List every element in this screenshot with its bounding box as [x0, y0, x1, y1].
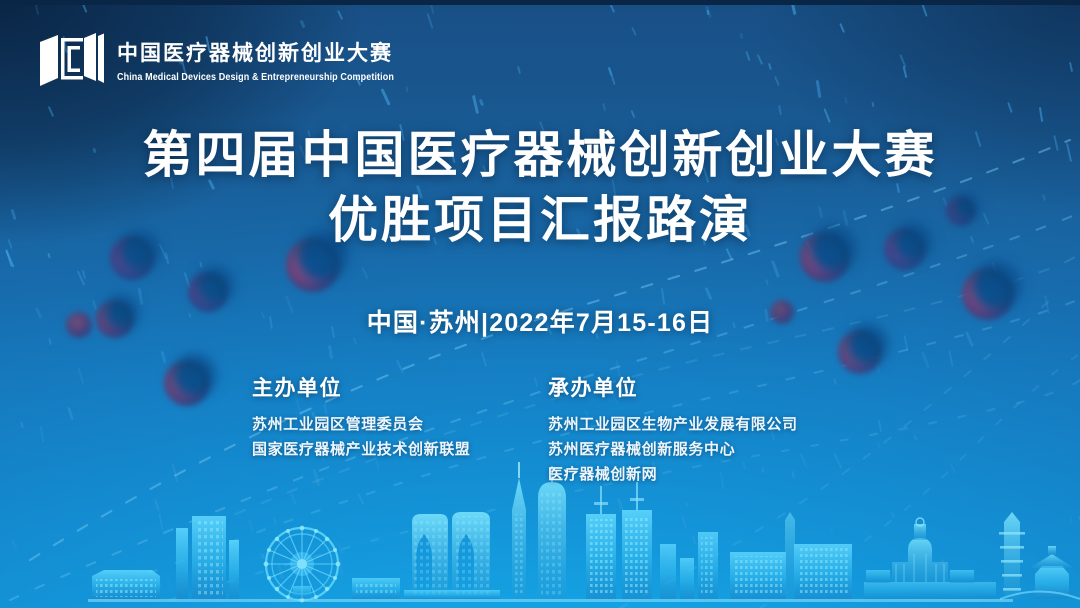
organizer-entity: 苏州工业园区生物产业发展有限公司	[548, 413, 850, 438]
organizers-section: 主办单位 苏州工业园区管理委员会 国家医疗器械产业技术创新联盟 承办单位 苏州工…	[0, 372, 1080, 488]
organizer-column-coorganizer: 承办单位 苏州工业园区生物产业发展有限公司 苏州医疗器械创新服务中心 医疗器械创…	[540, 372, 850, 488]
organizer-entity: 苏州工业园区管理委员会	[252, 413, 540, 438]
organizer-role-label: 承办单位	[548, 372, 850, 402]
organizer-entity: 国家医疗器械产业技术创新联盟	[252, 438, 540, 463]
organizer-role-label: 主办单位	[252, 372, 540, 402]
title-line-1: 第四届中国医疗器械创新创业大赛	[0, 126, 1080, 185]
event-date-location: 中国·苏州|2022年7月15-16日	[0, 303, 1080, 339]
open-door-window-icon	[38, 29, 104, 91]
title-line-2: 优胜项目汇报路演	[0, 191, 1080, 250]
organizer-column-host: 主办单位 苏州工业园区管理委员会 国家医疗器械产业技术创新联盟	[230, 372, 540, 488]
poster-canvas: 中国医疗器械创新创业大赛 China Medical Devices Desig…	[0, 0, 1080, 608]
organizer-entity: 医疗器械创新网	[548, 463, 850, 488]
top-edge-strip	[0, 0, 1080, 5]
organizer-entity: 苏州医疗器械创新服务中心	[548, 438, 850, 463]
poster-title: 第四届中国医疗器械创新创业大赛 优胜项目汇报路演	[0, 126, 1080, 250]
brand-name-en: China Medical Devices Design & Entrepren…	[117, 71, 394, 82]
brand-lockup: 中国医疗器械创新创业大赛 China Medical Devices Desig…	[38, 29, 394, 91]
brand-name-cn: 中国医疗器械创新创业大赛	[117, 42, 394, 66]
